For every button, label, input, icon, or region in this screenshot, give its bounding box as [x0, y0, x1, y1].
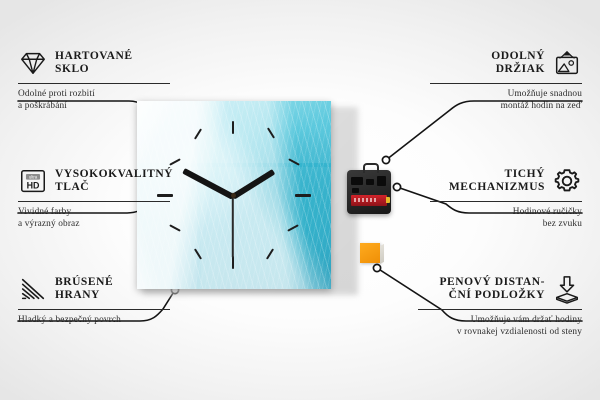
feature-title-line2: ČNÍ PODLOŽKY: [439, 289, 545, 303]
feature-title-line1: BRÚSENÉ: [55, 276, 113, 290]
connector-dot-silent-mechanism: [393, 183, 400, 190]
press-down-pad-icon: [552, 274, 582, 304]
feature-silent-mechanism: TICHÝ MECHANIZMUS Hodinové ručičky bez z…: [430, 166, 582, 230]
feature-desc-line2: bez zvuku: [430, 218, 582, 230]
feature-desc-line1: Vividné farby: [18, 206, 170, 218]
mechanism-shaft: [363, 163, 379, 173]
feature-description: Odolné proti rozbití a poškrábání: [18, 88, 170, 112]
ground-edges-icon: [18, 274, 48, 304]
mechanism-detail-c: [377, 176, 386, 186]
feature-desc-line2: a výrazný obraz: [18, 218, 170, 230]
connector-dot-durable-hanger: [382, 156, 389, 163]
infographic-canvas: HARTOVANÉ SKLO Odolné proti rozbití a po…: [0, 0, 600, 400]
feature-title-line2: MECHANIZMUS: [449, 181, 545, 195]
feature-desc-line1: Hladký a bezpečný povrch: [18, 314, 170, 326]
feature-desc-line1: Umožňuje vám držať hodiny: [418, 314, 582, 326]
feature-header: TICHÝ MECHANIZMUS: [430, 166, 582, 196]
feature-desc-line2: a poškrábání: [18, 100, 170, 112]
framed-picture-hanger-icon: [552, 48, 582, 78]
feature-divider: [18, 83, 170, 84]
feature-title-line1: PENOVÝ DISTAN-: [439, 276, 545, 290]
feature-title: BRÚSENÉ HRANY: [55, 276, 113, 303]
clock-tick-6: [232, 256, 234, 269]
feature-title-line2: DRŽIAK: [491, 63, 545, 77]
connector-dot-foam-spacers: [373, 264, 380, 271]
feature-header: ultra HD VYSOKOKVALITNÝ TLAČ: [18, 166, 170, 196]
feature-divider: [430, 83, 582, 84]
feature-description: Umožňuje snadnou montáž hodin na zeď: [430, 88, 582, 112]
feature-desc-line1: Umožňuje snadnou: [430, 88, 582, 100]
feature-title: VYSOKOKVALITNÝ TLAČ: [55, 168, 173, 195]
feature-divider: [418, 309, 582, 310]
feature-desc-line2: v rovnakej vzdialenosti od steny: [418, 326, 582, 338]
feature-ground-edges: BRÚSENÉ HRANY Hladký a bezpečný povrch: [18, 274, 170, 326]
feature-header: HARTOVANÉ SKLO: [18, 48, 170, 78]
feature-description: Vividné farby a výrazný obraz: [18, 206, 170, 230]
feature-title-line1: TICHÝ: [449, 168, 545, 182]
feature-divider: [430, 201, 582, 202]
feature-description: Hladký a bezpečný povrch: [18, 314, 170, 326]
mechanism-detail-d: [352, 188, 359, 193]
feature-title-line1: ODOLNÝ: [491, 50, 545, 64]
feature-divider: [18, 309, 170, 310]
feature-desc-line1: Hodinové ručičky: [430, 206, 582, 218]
feature-header: PENOVÝ DISTAN- ČNÍ PODLOŽKY: [418, 274, 582, 304]
battery-label: [354, 198, 378, 202]
feature-title-line1: VYSOKOKVALITNÝ: [55, 168, 173, 182]
feature-header: ODOLNÝ DRŽIAK: [430, 48, 582, 78]
feature-title-line2: TLAČ: [55, 181, 173, 195]
feature-desc-line1: Odolné proti rozbití: [18, 88, 170, 100]
battery: [351, 195, 387, 206]
foam-spacer-pad-side: [380, 244, 384, 264]
svg-text:ultra: ultra: [29, 175, 38, 180]
gear-icon: [552, 166, 582, 196]
feature-tempered-glass: HARTOVANÉ SKLO Odolné proti rozbití a po…: [18, 48, 170, 112]
feature-foam-spacers: PENOVÝ DISTAN- ČNÍ PODLOŽKY Umožňuje vám…: [418, 274, 582, 338]
clock-tick-3: [295, 194, 311, 197]
feature-title: TICHÝ MECHANIZMUS: [449, 168, 545, 195]
ultra-hd-icon: ultra HD: [18, 166, 48, 196]
feature-title: PENOVÝ DISTAN- ČNÍ PODLOŽKY: [439, 276, 545, 303]
feature-title: ODOLNÝ DRŽIAK: [491, 50, 545, 77]
feature-description: Umožňuje vám držať hodiny v rovnakej vzd…: [418, 314, 582, 338]
feature-divider: [18, 201, 170, 202]
feature-header: BRÚSENÉ HRANY: [18, 274, 170, 304]
mechanism-detail-b: [366, 179, 374, 185]
mechanism-detail-a: [351, 177, 363, 185]
battery-terminal: [386, 197, 390, 203]
feature-durable-hanger: ODOLNÝ DRŽIAK Umožňuje snadnou montáž ho…: [430, 48, 582, 112]
feature-description: Hodinové ručičky bez zvuku: [430, 206, 582, 230]
feature-title: HARTOVANÉ SKLO: [55, 50, 133, 77]
foam-spacer-pad: [360, 243, 380, 263]
feature-hd-print: ultra HD VYSOKOKVALITNÝ TLAČ Vividné far…: [18, 166, 170, 230]
feature-title-line2: HRANY: [55, 289, 113, 303]
feature-title-line1: HARTOVANÉ: [55, 50, 133, 64]
clock-center-hub: [231, 193, 236, 198]
feature-title-line2: SKLO: [55, 63, 133, 77]
clock-tick-12: [232, 121, 234, 134]
diamond-icon: [18, 48, 48, 78]
clock-mechanism: [347, 170, 391, 214]
clock-second-hand: [232, 196, 234, 258]
svg-text:HD: HD: [27, 181, 40, 191]
feature-desc-line2: montáž hodin na zeď: [430, 100, 582, 112]
